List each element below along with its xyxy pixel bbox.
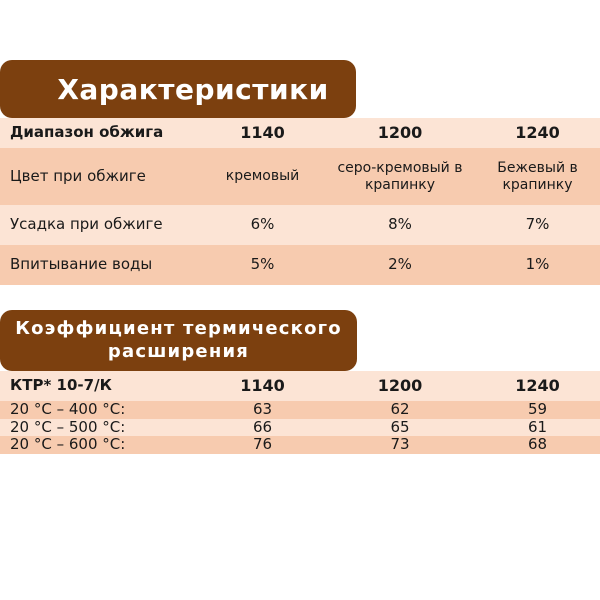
header-cell-label: Диапазон обжига [0, 118, 200, 148]
section-2-title-line-2: расширения [96, 341, 261, 364]
cell-water-absorption-1140: 5% [200, 245, 325, 285]
cell-20-600-1140: 76 [200, 436, 325, 454]
header-cell-1140: 1140 [200, 118, 325, 148]
section-2-title-line-1: Коэффициент термического [3, 318, 354, 341]
characteristics-table: Диапазон обжига 1140 1200 1240 Цвет при … [0, 118, 600, 285]
table-header-row: КТР* 10-7/К 1140 1200 1240 [0, 371, 600, 401]
cell-20-600-1200: 73 [325, 436, 475, 454]
row-label-20-600: 20 °C – 600 °C: [0, 436, 200, 454]
cell-20-400-1240: 59 [475, 401, 600, 419]
cell-firing-color-1140: кремовый [200, 148, 325, 205]
cell-water-absorption-1240: 1% [475, 245, 600, 285]
table-header-row: Диапазон обжига 1140 1200 1240 [0, 118, 600, 148]
table-row: Цвет при обжиге кремовый серо-кремовый в… [0, 148, 600, 205]
table-row: Впитывание воды 5% 2% 1% [0, 245, 600, 285]
row-label-water-absorption: Впитывание воды [0, 245, 200, 285]
spec-sheet-page: Характеристики Диапазон обжига 1140 1200… [0, 0, 600, 600]
section-2-title-badge: Коэффициент термического расширения [0, 310, 357, 371]
table-row: 20 °C – 600 °C: 76 73 68 [0, 436, 600, 454]
cell-firing-shrinkage-1240: 7% [475, 205, 600, 245]
table-row: 20 °C – 400 °C: 63 62 59 [0, 401, 600, 419]
row-label-firing-shrinkage: Усадка при обжиге [0, 205, 200, 245]
row-label-20-400: 20 °C – 400 °C: [0, 401, 200, 419]
cell-20-600-1240: 68 [475, 436, 600, 454]
row-label-20-500: 20 °C – 500 °C: [0, 419, 200, 437]
cell-20-500-1200: 65 [325, 419, 475, 437]
table-row: Усадка при обжиге 6% 8% 7% [0, 205, 600, 245]
cell-firing-shrinkage-1200: 8% [325, 205, 475, 245]
header-cell-1200: 1200 [325, 118, 475, 148]
cell-firing-color-1200: серо-кремовый в крапинку [325, 148, 475, 205]
cell-20-400-1140: 63 [200, 401, 325, 419]
header-cell-ktr-1200: 1200 [325, 371, 475, 401]
row-label-firing-color: Цвет при обжиге [0, 148, 200, 205]
cell-firing-color-1240: Бежевый в крапинку [475, 148, 600, 205]
thermal-expansion-table: КТР* 10-7/К 1140 1200 1240 20 °C – 400 °… [0, 371, 600, 454]
header-cell-ktr-1240: 1240 [475, 371, 600, 401]
header-cell-ktr-1140: 1140 [200, 371, 325, 401]
cell-20-400-1200: 62 [325, 401, 475, 419]
section-1-title: Характеристики [27, 73, 328, 106]
header-cell-ktr: КТР* 10-7/К [0, 371, 200, 401]
cell-20-500-1240: 61 [475, 419, 600, 437]
section-1-title-badge: Характеристики [0, 60, 356, 118]
cell-water-absorption-1200: 2% [325, 245, 475, 285]
cell-20-500-1140: 66 [200, 419, 325, 437]
table-row: 20 °C – 500 °C: 66 65 61 [0, 419, 600, 437]
header-cell-1240: 1240 [475, 118, 600, 148]
cell-firing-shrinkage-1140: 6% [200, 205, 325, 245]
